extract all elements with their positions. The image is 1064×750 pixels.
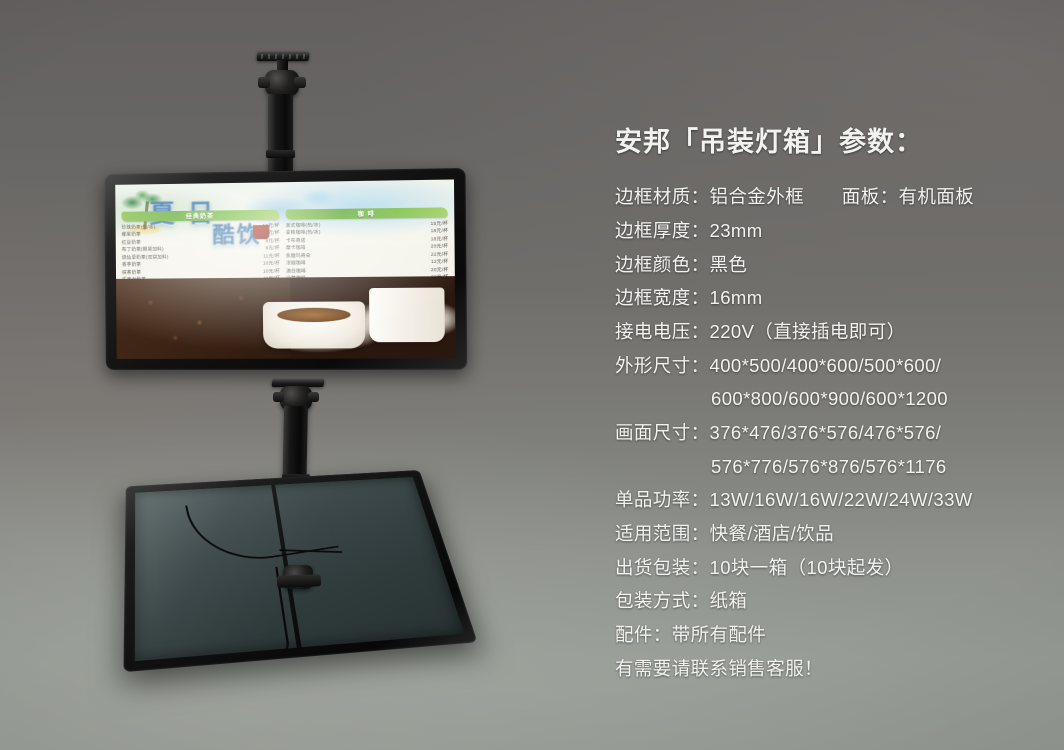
adjust-knob-lower-right-icon (308, 392, 319, 402)
menu-item-price: 12元/杯 (427, 258, 449, 266)
mount-plate-holes (261, 54, 306, 59)
menu-section-header-label: 咖 啡 (358, 209, 375, 218)
spec-line: 600*800/600*900/600*1200 (615, 382, 1045, 416)
spec-line: 单品功率：13W/16W/16W/22W/24W/33W (615, 483, 1045, 517)
menu-section-header: 经典奶茶 (121, 210, 280, 222)
spec-line: 外形尺寸：400*500/400*600/500*600/ (615, 349, 1045, 383)
coffee-liquid (277, 308, 351, 323)
spec-line: 边框厚度：23mm (615, 214, 1045, 248)
spec-line: 画面尺寸：376*476/376*576/476*576/ (615, 416, 1045, 450)
spec-line: 接电电压：220V（直接插电即可） (615, 315, 1045, 349)
spec-line: 576*776/576*876/576*1176 (615, 450, 1045, 484)
menu-item-price: 20元/杯 (427, 266, 449, 274)
menu-item-price: 10元/杯 (259, 260, 280, 268)
support-pole-top-band (266, 150, 295, 158)
spec-line: 出货包装：10块一箱（10块起发） (615, 551, 1045, 585)
menu-poster: 夏 日 酷饮 经典奶茶珍珠奶茶(热/冰)10元/杯椰果奶茶9元/杯红豆奶茶9元/… (115, 179, 455, 359)
spec-line-list: 边框材质：铝合金外框 面板：有机面板边框厚度：23mm边框颜色：黑色边框宽度：1… (615, 180, 1045, 685)
spec-title: 安邦「吊装灯箱」参数： (615, 126, 1045, 158)
screenshot-root: 夏 日 酷饮 经典奶茶珍珠奶茶(热/冰)10元/杯椰果奶茶9元/杯红豆奶茶9元/… (0, 0, 1064, 750)
panel-clamp-bracket (277, 574, 321, 588)
spec-line: 有需要请联系销售客服！ (615, 652, 1045, 686)
adjust-knob-right-icon (294, 77, 306, 88)
adjust-knob-left-icon (258, 77, 270, 88)
spec-line: 边框宽度：16mm (615, 281, 1045, 315)
adjust-knob-lower-left-icon (273, 392, 284, 402)
menu-item-price: 10元/杯 (259, 267, 280, 275)
support-pole-top (268, 94, 293, 180)
spec-line: 包装方式：纸箱 (615, 584, 1045, 618)
lightbox-display-surface: 夏 日 酷饮 经典奶茶珍珠奶茶(热/冰)10元/杯椰果奶茶9元/杯红豆奶茶9元/… (115, 179, 455, 359)
spec-line: 适用范围：快餐/酒店/饮品 (615, 517, 1045, 551)
menu-section-header: 咖 啡 (285, 207, 448, 219)
specification-block: 安邦「吊装灯箱」参数： 边框材质：铝合金外框 面板：有机面板边框厚度：23mm边… (615, 126, 1045, 685)
spec-line: 配件：带所有配件 (615, 618, 1045, 652)
coffee-photo (116, 276, 456, 359)
coffee-cup-large-icon (263, 301, 366, 349)
menu-section: 咖 啡美式咖啡(热/冰)15元/杯拿铁咖啡(热/冰)18元/杯卡布奇诺18元/杯… (286, 207, 449, 282)
menu-section-header-label: 经典奶茶 (186, 211, 214, 220)
spec-line: 边框颜色：黑色 (615, 248, 1045, 282)
coffee-cup-small-icon (369, 288, 445, 343)
lit-lightbox: 夏 日 酷饮 经典奶茶珍珠奶茶(热/冰)10元/杯椰果奶茶9元/杯红豆奶茶9元/… (104, 168, 467, 370)
spec-line: 边框材质：铝合金外框 面板：有机面板 (615, 180, 1045, 214)
